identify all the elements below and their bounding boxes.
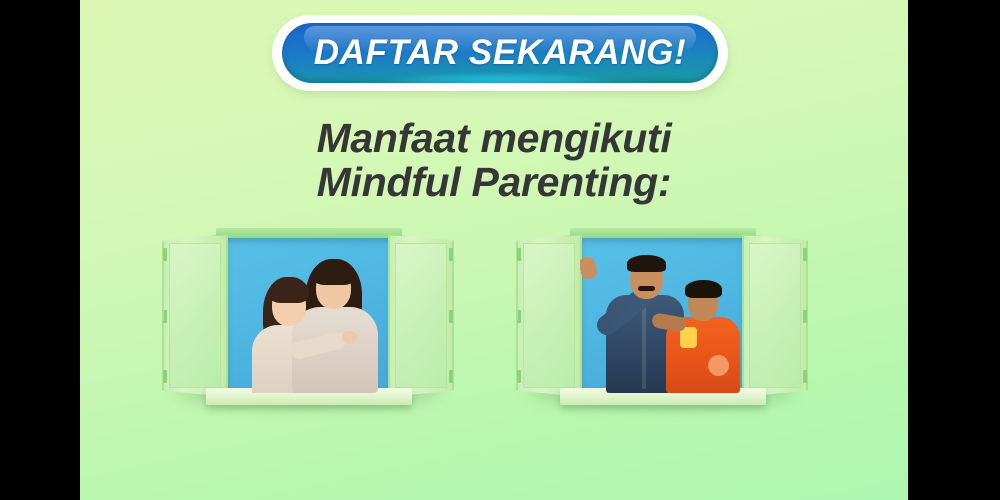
window-right	[512, 228, 812, 413]
shutter-handle[interactable]	[158, 308, 164, 322]
window-left	[158, 228, 458, 413]
person-son	[664, 271, 742, 393]
window-left-photo	[226, 238, 392, 393]
shutter-glass	[169, 243, 221, 388]
father-hair	[627, 255, 666, 272]
letterbox-bar-left	[0, 0, 80, 500]
son-shirt-badge	[708, 355, 729, 376]
shutter-hinge-icon	[449, 310, 453, 323]
shutter-hinge-icon	[163, 248, 167, 261]
father-pointing-hand	[580, 255, 599, 281]
window-left-shutter-right[interactable]	[388, 234, 454, 397]
shutter-glass	[523, 243, 575, 388]
shutter-glass	[749, 243, 801, 388]
window-right-photo	[580, 238, 746, 393]
shutter-hinge-icon	[517, 248, 521, 261]
window-left-shutter-left[interactable]	[162, 234, 228, 397]
letterbox-bar-right	[908, 0, 1000, 500]
person-mother	[292, 259, 378, 393]
father-moustache	[638, 286, 655, 291]
cta-button-wrapper: DAFTAR SEKARANG!	[272, 15, 728, 91]
mother-hair-front	[313, 261, 355, 285]
cta-button-label: DAFTAR SEKARANG!	[314, 33, 687, 73]
headline-line-2: Mindful Parenting:	[80, 160, 908, 204]
register-now-button[interactable]: DAFTAR SEKARANG!	[272, 15, 728, 91]
shutter-hinge-icon	[803, 310, 807, 323]
cta-button-fill: DAFTAR SEKARANG!	[282, 23, 718, 83]
shutter-hinge-icon	[803, 248, 807, 261]
daughter-hand	[342, 331, 357, 344]
son-hair	[685, 280, 722, 298]
shutter-hinge-icon	[449, 370, 453, 383]
father-shirt-placket	[642, 301, 646, 389]
window-right-shutter-right[interactable]	[742, 234, 808, 397]
shutter-hinge-icon	[163, 370, 167, 383]
poster-stage: DAFTAR SEKARANG! Manfaat mengikuti Mindf…	[0, 0, 1000, 500]
page-title: Manfaat mengikuti Mindful Parenting:	[80, 116, 908, 205]
shutter-handle[interactable]	[512, 308, 518, 322]
shutter-hinge-icon	[803, 370, 807, 383]
poster-canvas: DAFTAR SEKARANG! Manfaat mengikuti Mindf…	[80, 0, 908, 500]
shutter-hinge-icon	[517, 370, 521, 383]
daughter-hair-front	[269, 279, 309, 303]
shutter-hinge-icon	[449, 248, 453, 261]
shutter-glass	[395, 243, 447, 388]
headline-line-1: Manfaat mengikuti	[80, 116, 908, 160]
window-right-shutter-left[interactable]	[516, 234, 582, 397]
